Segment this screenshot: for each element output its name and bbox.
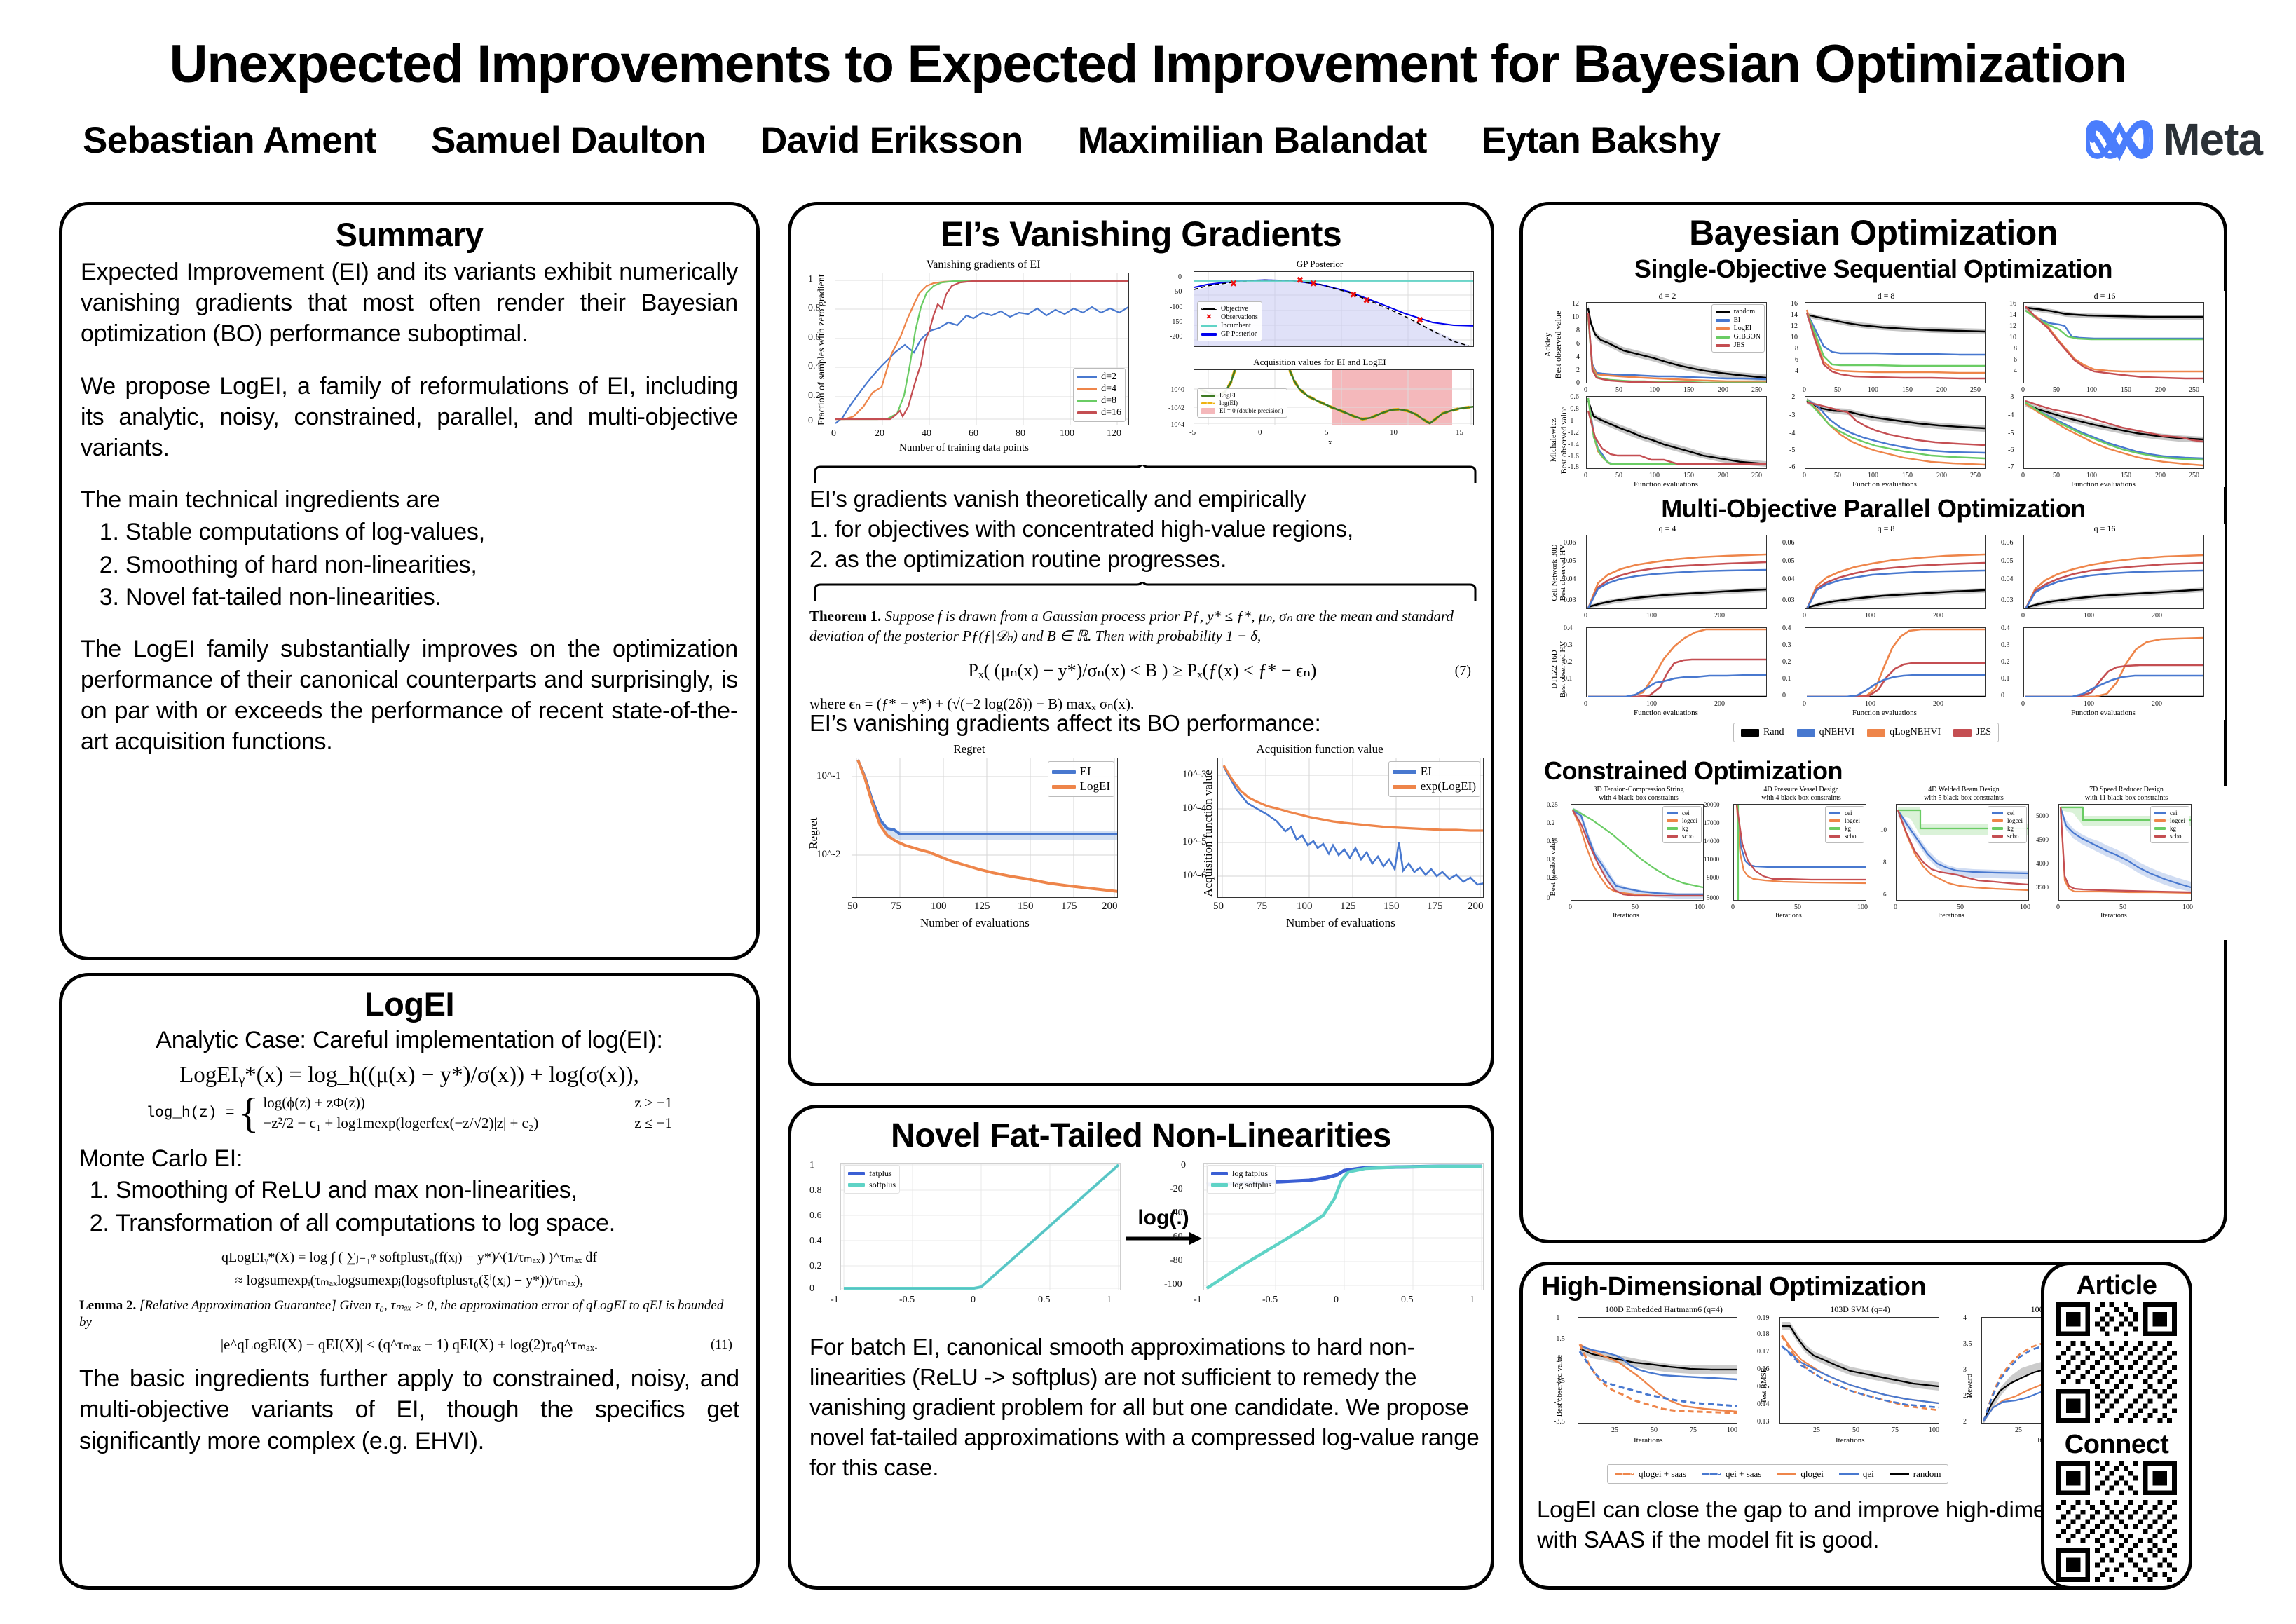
chart-title-regret: Regret	[829, 742, 1109, 756]
tick-x: 0	[1894, 903, 1897, 911]
tick-x: 100	[1695, 903, 1705, 911]
tick-x: 200	[1718, 472, 1728, 479]
tick-y: 4000	[2036, 860, 2049, 867]
tick-x: 200	[1468, 901, 1484, 913]
summary-ingredients-lead: The main technical ingredients are	[81, 484, 738, 515]
plot-dtlz2-q4	[1586, 627, 1767, 697]
legend-label: GIBBON	[1734, 333, 1761, 341]
axis-label-x-con-4: Iterations	[2100, 912, 2127, 920]
chart-title-tension-string: 3D Tension-Compression String with 4 bla…	[1558, 786, 1719, 802]
observation-marker-icon: ✖	[1201, 313, 1217, 321]
plot-fatplus-log: log fatplus log softplus	[1203, 1163, 1484, 1290]
chart-title-hartmann6: 100D Embedded Hartmann6 (q=4)	[1569, 1304, 1758, 1315]
tick-y: 4	[1963, 1314, 1967, 1322]
tick-x: 0	[1803, 472, 1806, 479]
legend-label: d=16	[1101, 407, 1121, 418]
plot-tension-string: cei logcei kg scbo	[1571, 804, 1704, 901]
theorem-label: Theorem 1.	[809, 608, 881, 625]
tick-x: 200	[1933, 612, 1943, 620]
connect-label: Connect	[2044, 1430, 2189, 1460]
legend-constrained-3: cei logcei kg scbo	[1988, 806, 2027, 843]
plot-ackley-d16	[2023, 302, 2204, 383]
svg-text:✖: ✖	[1230, 278, 1238, 289]
tick-y: 0.4	[809, 1236, 822, 1247]
tick-x: 50	[847, 901, 858, 913]
equation-lemma-row: |e^qLogEI(X) − qEI(X)| ≤ (q^τₘₐₓ − 1) qE…	[79, 1336, 739, 1353]
tick-y: -3	[1789, 411, 1795, 419]
legend-constrained-2: cei logcei kg scbo	[1825, 806, 1864, 843]
legend-label: GP Posterior	[1221, 330, 1257, 338]
tick-y: 0.8	[809, 1185, 822, 1196]
chart-title-acquisition-values: Acquisition values for EI and LogEI	[1166, 357, 1474, 368]
tick-x: 1	[1107, 1295, 1112, 1306]
connect-qr-code[interactable]	[2056, 1461, 2177, 1582]
tick-x: 100	[1649, 386, 1660, 394]
axis-label-y-ackley: Ackley Best observed value	[1543, 306, 1564, 383]
axis-label-x-regret: Number of evaluations	[920, 916, 1030, 930]
axis-label-x-con-1: Iterations	[1613, 912, 1639, 920]
vanishing-bullet-2: 2. as the optimization routine progresse…	[809, 545, 1475, 575]
tick-y: -1	[1554, 1314, 1559, 1322]
axis-label-x-hidim-2: Iterations	[1836, 1436, 1865, 1445]
tick-x: 150	[2121, 386, 2131, 394]
tick-x: 125	[974, 901, 990, 913]
list-item: Transformation of all computations to lo…	[116, 1208, 739, 1239]
list-item: Stable computations of log-values,	[125, 517, 738, 547]
svg-text:✖: ✖	[1363, 295, 1371, 306]
logei-analytic-lead: Analytic Case: Careful implementation of…	[79, 1025, 739, 1056]
plot-svm	[1779, 1317, 1939, 1424]
axis-label-x-dtlz2-2: Function evaluations	[1852, 709, 1917, 717]
tick-y: -150	[1170, 318, 1182, 326]
tick-y: -1.4	[1568, 441, 1579, 449]
tick-y: 5000	[1707, 894, 1719, 901]
tick-x: 75	[891, 901, 901, 913]
tick-x: -0.5	[1262, 1295, 1278, 1306]
legend-label: cei	[1682, 810, 1690, 817]
chart-title-speed-reducer: 7D Speed Reducer Design with 11 black-bo…	[2046, 786, 2207, 802]
tick-y: 6	[2014, 356, 2017, 364]
tick-x: 100	[2020, 903, 2030, 911]
tick-y: 0.05	[1782, 557, 1795, 565]
poster-header: Unexpected Improvements to Expected Impr…	[0, 0, 2296, 188]
legend-constrained-1: cei logcei kg scbo	[1662, 806, 1702, 843]
tick-y: 0.04	[2001, 575, 2014, 583]
summary-title: Summary	[62, 215, 756, 254]
theorem-text: Suppose f is drawn from a Gaussian proce…	[809, 608, 1454, 644]
equation-qlogei-1: qLogEIᵧ*(X) = log ∫ ( ∑ⱼ₌₁ᵠ softplusτ₀(f…	[79, 1248, 739, 1266]
tick-y: -1.5	[1554, 1335, 1565, 1343]
plot-speed-reducer: cei logcei kg scbo	[2058, 804, 2192, 901]
tick-y: 8000	[1707, 874, 1719, 881]
legend-constrained-4: cei logcei kg scbo	[2150, 806, 2189, 843]
tick-y: -3	[2008, 393, 2014, 401]
tick-x: 0	[1584, 700, 1587, 708]
tick-y: 8	[2014, 345, 2017, 353]
tick-x: 100	[1646, 700, 1657, 708]
tick-y: -1.8	[1568, 463, 1579, 471]
tick-y: -100	[1164, 1279, 1182, 1290]
tick-y: 14000	[1704, 838, 1720, 845]
brace-icon: {	[239, 1096, 259, 1130]
legend-label: EI	[1734, 316, 1740, 324]
chart-title-cell-q8: q = 8	[1788, 524, 1984, 534]
tick-x: 80	[1016, 428, 1025, 439]
meta-infinity-icon	[2086, 117, 2153, 162]
legend-acquisition-values: LogEI log(EI) EI = 0 (double precision)	[1197, 388, 1287, 418]
tick-y: -0.6	[1568, 393, 1579, 401]
tick-y: -5	[2008, 430, 2014, 437]
tick-x: -1	[1194, 1295, 1202, 1306]
tick-x: 0	[1334, 1295, 1339, 1306]
summary-ingredients-list: Stable computations of log-values, Smoot…	[81, 517, 738, 613]
legend-label: kg	[2170, 825, 2176, 832]
tick-x: 120	[1107, 428, 1121, 439]
legend-label: fatplus	[869, 1168, 892, 1179]
tick-y: 0.03	[1564, 596, 1576, 604]
legend-label: scbo	[1845, 833, 1857, 840]
tick-y: 0.25	[1547, 801, 1558, 808]
logei-title: LogEI	[62, 985, 756, 1023]
tick-y: 5000	[2036, 812, 2049, 819]
tick-y: 10^-5	[1182, 836, 1207, 848]
tick-y: 1	[809, 1160, 814, 1171]
chart-title-svm: 103D SVM (q=4)	[1765, 1304, 1955, 1315]
tick-x: 200	[1714, 612, 1725, 620]
equation-theorem-number: (7)	[1455, 663, 1471, 679]
tick-y: 0.3	[1782, 641, 1791, 649]
tick-x: 100	[931, 901, 947, 913]
tick-x: 25	[1813, 1426, 1820, 1434]
plot-ackley-d8	[1805, 302, 1986, 383]
svg-text:✖: ✖	[1350, 289, 1358, 300]
tick-y: 0.06	[1782, 539, 1795, 547]
tick-y: -6	[2008, 446, 2014, 454]
plot-michalewicz-d2	[1586, 396, 1767, 469]
tick-x: 100	[1297, 901, 1313, 913]
logei-panel: LogEI Analytic Case: Careful implementat…	[59, 973, 760, 1590]
tick-x: 0	[2021, 386, 2025, 394]
lemma-2: Lemma 2. [Relative Approximation Guarant…	[79, 1297, 739, 1332]
tick-y: 0.1	[1547, 856, 1554, 863]
links-panel: Article	[2041, 1262, 2192, 1590]
tick-x: 50	[1834, 386, 1841, 394]
article-label: Article	[2044, 1271, 2189, 1301]
lemma-text: [Relative Approximation Guarantee] Given…	[79, 1298, 723, 1330]
plot-regret: EI LogEI	[852, 758, 1118, 898]
axis-label-x-mich-2: Function evaluations	[1852, 480, 1917, 489]
tick-y: 4	[2014, 367, 2017, 375]
legend-label: logcei	[1682, 817, 1697, 824]
tick-x: 250	[1751, 386, 1762, 394]
chart-title-pressure-vessel: 4D Pressure Vessel Design with 4 black-b…	[1721, 786, 1882, 802]
tick-y: 2	[1576, 367, 1580, 374]
legend-label: cei	[1845, 810, 1852, 817]
tick-x: 50	[2053, 386, 2060, 394]
tick-y: 2.5	[1963, 1392, 1972, 1400]
tick-y: 0.05	[2001, 557, 2014, 565]
tick-y: -3.5	[1554, 1418, 1565, 1426]
tick-y: 10	[1791, 334, 1798, 341]
bo-subtitle-multi: Multi-Objective Parallel Optimization	[1523, 494, 2224, 524]
chart-title-acq-func: Acquisition function value	[1180, 742, 1460, 756]
tick-x: 150	[1018, 901, 1034, 913]
plot-vanishing-gradients: d=2 d=4 d=8 d=16	[835, 273, 1129, 425]
tick-y: 0	[2001, 692, 2004, 700]
equation-theorem: Pₓ( (μₙ(x) − y*)/σₙ(x) < B ) ≥ Pₓ(ƒ(x) <…	[969, 660, 1317, 681]
tick-y: 0.2	[1564, 658, 1573, 666]
legend-regret: EI LogEI	[1048, 761, 1114, 797]
tick-y: -80	[1170, 1255, 1183, 1267]
legend-label: softplus	[869, 1180, 896, 1190]
tick-x: 200	[1718, 386, 1728, 394]
tick-y: 0.2	[808, 390, 821, 402]
plot-dtlz2-q16	[2023, 627, 2204, 697]
tick-x: 75	[1892, 1426, 1899, 1434]
tick-y: 4500	[2036, 836, 2049, 843]
tick-x: 100	[1857, 903, 1868, 911]
meta-logo: Meta	[2086, 114, 2262, 165]
bo-performance-charts: Regret Regret EI LogEI 10^-1 10^-2	[801, 742, 1488, 939]
legend-label: random	[1913, 1468, 1941, 1480]
legend-label: cei	[2007, 810, 2015, 817]
axis-label-x-con-3: Iterations	[1938, 912, 1964, 920]
summary-paragraph-1: Expected Improvement (EI) and its varian…	[81, 257, 738, 350]
tick-y: -7	[2008, 463, 2014, 471]
plot-cell-network-q16	[2023, 535, 2204, 609]
tick-y: 0.04	[1564, 575, 1576, 583]
tick-x: 100	[1646, 612, 1657, 620]
axis-label-x-vanishing: Number of training data points	[899, 442, 1029, 454]
tick-x: 200	[2155, 386, 2166, 394]
tick-x: 100	[1929, 1426, 1939, 1434]
tick-y: -10^4	[1168, 421, 1184, 429]
axis-label-x-dtlz2-1: Function evaluations	[1634, 709, 1698, 717]
tick-y: 0.14	[1757, 1400, 1770, 1408]
bo-subtitle-constrained: Constrained Optimization	[1523, 756, 2224, 786]
tick-y: 0.15	[1547, 838, 1558, 845]
tick-y: 16	[2009, 300, 2016, 308]
legend-label: random	[1734, 308, 1756, 315]
tick-x: 0	[2021, 612, 2025, 620]
legend-label: LogEI	[1219, 392, 1236, 399]
tick-x: 0	[2021, 472, 2025, 479]
vanishing-bullet-lead: EI’s gradients vanish theoretically and …	[809, 484, 1475, 514]
tick-x: 50	[1632, 903, 1639, 911]
tick-x: 100	[2182, 903, 2193, 911]
plot-gp-posterior: ✖ ✖ ✖ ✖ ✖ ✖ Objective ✖Observations Incu…	[1194, 271, 1474, 347]
tick-y: 0.2	[1782, 658, 1791, 666]
tick-x: 100	[2084, 700, 2094, 708]
tick-y: 10^-2	[816, 849, 841, 861]
bo-subtitle-single: Single-Objective Sequential Optimization	[1523, 254, 2224, 284]
legend-label: Incumbent	[1221, 322, 1251, 329]
tick-y: -10^2	[1168, 404, 1184, 412]
tick-x: -5	[1189, 428, 1196, 437]
legend-gp-posterior: Objective ✖Observations Incumbent GP Pos…	[1197, 301, 1262, 341]
tick-x: 250	[1751, 472, 1762, 479]
tick-y: 0	[1547, 894, 1550, 901]
tick-y: 0.05	[1547, 874, 1558, 881]
list-item: Smoothing of ReLU and max non-linearitie…	[116, 1175, 739, 1206]
tick-x: -0.5	[899, 1295, 915, 1306]
chart-title-welded-beam: 4D Welded Beam Design with 5 black-box c…	[1883, 786, 2044, 802]
legend-label: logcei	[2170, 817, 2185, 824]
legend-high-dimensional: qlogei + saas qei + saas qlogei qei rand…	[1607, 1464, 1948, 1484]
author-name: Samuel Daulton	[431, 119, 706, 162]
tick-y: 0	[1178, 273, 1182, 281]
tick-y: 0.6	[809, 1210, 822, 1222]
tick-x: 150	[1902, 386, 1913, 394]
tick-x: 100	[2086, 472, 2097, 479]
tick-y: 0.18	[1757, 1330, 1770, 1338]
tick-y: 12	[2009, 322, 2016, 330]
tick-y: 3.5	[1963, 1340, 1972, 1348]
legend-label: kg	[1845, 825, 1851, 832]
tick-x: 200	[2152, 612, 2162, 620]
tick-x: 200	[2152, 700, 2162, 708]
plot-michalewicz-d8	[1805, 396, 1986, 469]
tick-y: -5	[1789, 446, 1795, 454]
tick-y: 0.1	[1564, 675, 1573, 683]
tick-y: 0	[808, 416, 813, 427]
tick-y: 0.4	[1782, 625, 1791, 632]
tick-y: 0.06	[1564, 539, 1576, 547]
tick-x: 200	[1936, 472, 1947, 479]
summary-paragraph-4: The LogEI family substantially improves …	[81, 634, 738, 758]
brace-icon	[812, 582, 1478, 601]
legend-label: LogEI	[1734, 325, 1752, 332]
tick-x: 250	[1970, 386, 1981, 394]
tick-y: 2	[1963, 1418, 1967, 1426]
monte-carlo-lead: Monte Carlo EI:	[79, 1143, 739, 1174]
tick-y: -0.8	[1568, 405, 1579, 413]
tick-y: 10	[1572, 313, 1579, 321]
vanishing-title: EI’s Vanishing Gradients	[791, 214, 1491, 254]
equation-qlogei-2: ≈ logsumexpᵢ(τₘₐₓlogsumexpⱼ(logsoftplusτ…	[79, 1271, 739, 1289]
tick-y: 0.05	[1564, 557, 1576, 565]
tick-x: 0	[1803, 612, 1806, 620]
tick-x: 50	[1615, 386, 1622, 394]
author-name: Eytan Bakshy	[1482, 119, 1720, 162]
equation-logh-case1: log(ϕ(z) + zΦ(z))	[263, 1094, 592, 1112]
tick-x: 150	[2121, 472, 2131, 479]
tick-x: 20	[875, 428, 884, 439]
svg-text:✖: ✖	[1310, 278, 1318, 289]
tick-y: 0	[1576, 379, 1580, 387]
legend-fatplus-log: log fatplus log softplus	[1207, 1165, 1276, 1194]
tick-x: 100	[1060, 428, 1074, 439]
tick-x: 0	[971, 1295, 976, 1306]
arrow-right-icon	[1125, 1230, 1202, 1247]
article-qr-code[interactable]	[2056, 1302, 2177, 1423]
tick-y: 16	[1791, 300, 1798, 308]
legend-label: scbo	[2170, 833, 2182, 840]
tick-y: -2	[1554, 1356, 1559, 1364]
chart-title-ackley-d2: d = 2	[1569, 291, 1765, 301]
tick-x: 0	[1569, 903, 1572, 911]
tick-y: 0.2	[2001, 658, 2010, 666]
chart-title-ackley-d8: d = 8	[1788, 291, 1984, 301]
tick-x: 200	[1714, 700, 1725, 708]
legend-label: EI	[1421, 765, 1432, 779]
axis-label-y-dtlz2: DTLZ2 16D Best observed HV	[1550, 624, 1567, 715]
legend-vanishing: d=2 d=4 d=8 d=16	[1073, 368, 1126, 422]
tick-y: -20	[1170, 1184, 1183, 1195]
fat-tailed-panel: Novel Fat-Tailed Non-Linearities fatplus…	[788, 1105, 1494, 1590]
legend-single-objective: random EI LogEI GIBBON JES	[1711, 304, 1765, 353]
plot-fatplus-linear: fatplus softplus	[840, 1163, 1121, 1290]
plot-cell-network-q8	[1805, 535, 1986, 609]
summary-panel: Summary Expected Improvement (EI) and it…	[59, 202, 760, 960]
tick-y: 0.17	[1757, 1348, 1770, 1356]
fattail-charts-row: fatplus softplus 1 0.8 0.6 0.4 0.2 0 -1 …	[804, 1160, 1484, 1321]
legend-label: qlogei + saas	[1639, 1468, 1686, 1480]
tick-x: 1	[1470, 1295, 1475, 1306]
legend-label: Rand	[1763, 727, 1784, 738]
tick-y: 8	[1795, 345, 1798, 353]
summary-paragraph-2: We propose LogEI, a family of reformulat…	[81, 371, 738, 464]
tick-x: 0	[2021, 700, 2025, 708]
axis-label-x-con-2: Iterations	[1775, 912, 1802, 920]
legend-label: qlogei	[1800, 1468, 1824, 1480]
equation-logh-cond1: z > −1	[634, 1094, 672, 1112]
tick-y: -60	[1170, 1231, 1183, 1243]
plot-pressure-vessel: cei logcei kg scbo	[1733, 804, 1866, 901]
tick-x: 175	[1061, 901, 1077, 913]
author-list: Sebastian Ament Samuel Daulton David Eri…	[83, 119, 2045, 162]
tick-y: 10	[2009, 334, 2016, 341]
tick-y: -2	[1789, 393, 1795, 401]
tick-y: 8	[1576, 327, 1580, 334]
axis-label-x-acquisition: x	[1328, 438, 1332, 446]
fattail-body-text: For batch EI, canonical smooth approxima…	[809, 1332, 1480, 1482]
tick-y: 12	[1572, 300, 1579, 308]
tick-x: 0	[1584, 386, 1587, 394]
list-item: Smoothing of hard non-linearities,	[125, 550, 738, 580]
tick-y: 8	[1883, 859, 1887, 866]
tick-y: 0.06	[2001, 539, 2014, 547]
tick-x: 100	[1868, 472, 1878, 479]
equation-logei: LogEIᵧ*(x) = log_h((μ(x) − y*)/σ(x)) + l…	[79, 1063, 739, 1089]
tick-x: 150	[1683, 386, 1694, 394]
vanishing-gradients-panel: EI’s Vanishing Gradients Vanishing gradi…	[788, 202, 1494, 1086]
logei-closing-text: The basic ingredients further apply to c…	[79, 1363, 739, 1456]
tick-x: 50	[1852, 1426, 1859, 1434]
equation-logh-cond2: z ≤ −1	[634, 1114, 672, 1132]
performance-lead: EI’s vanishing gradients affect its BO p…	[809, 709, 1475, 739]
tick-y: 6	[1576, 340, 1580, 348]
tick-x: 100	[1865, 700, 1875, 708]
plot-michalewicz-d16	[2023, 396, 2204, 469]
legend-label: EI	[1080, 765, 1091, 779]
chart-title-cell-q4: q = 4	[1569, 524, 1765, 534]
tick-x: 40	[922, 428, 931, 439]
tick-x: 25	[2015, 1426, 2022, 1434]
legend-label: Objective	[1221, 305, 1248, 313]
plot-acquisition-values: LogEI log(EI) EI = 0 (double precision)	[1194, 369, 1474, 425]
legend-label: exp(LogEI)	[1421, 779, 1476, 793]
legend-label: d=8	[1101, 395, 1116, 407]
tick-y: 3500	[2036, 884, 2049, 891]
equation-logh: log_h(z) = { log(ϕ(z) + zΦ(z)) z > −1 −z…	[79, 1094, 739, 1132]
equation-logh-lhs: log_h(z) =	[146, 1105, 235, 1121]
tick-x: 0	[1803, 386, 1806, 394]
legend-label: qei + saas	[1726, 1468, 1761, 1480]
bo-title: Bayesian Optimization	[1523, 212, 2224, 253]
tick-x: 175	[1427, 901, 1443, 913]
legend-label: Observations	[1221, 313, 1258, 321]
